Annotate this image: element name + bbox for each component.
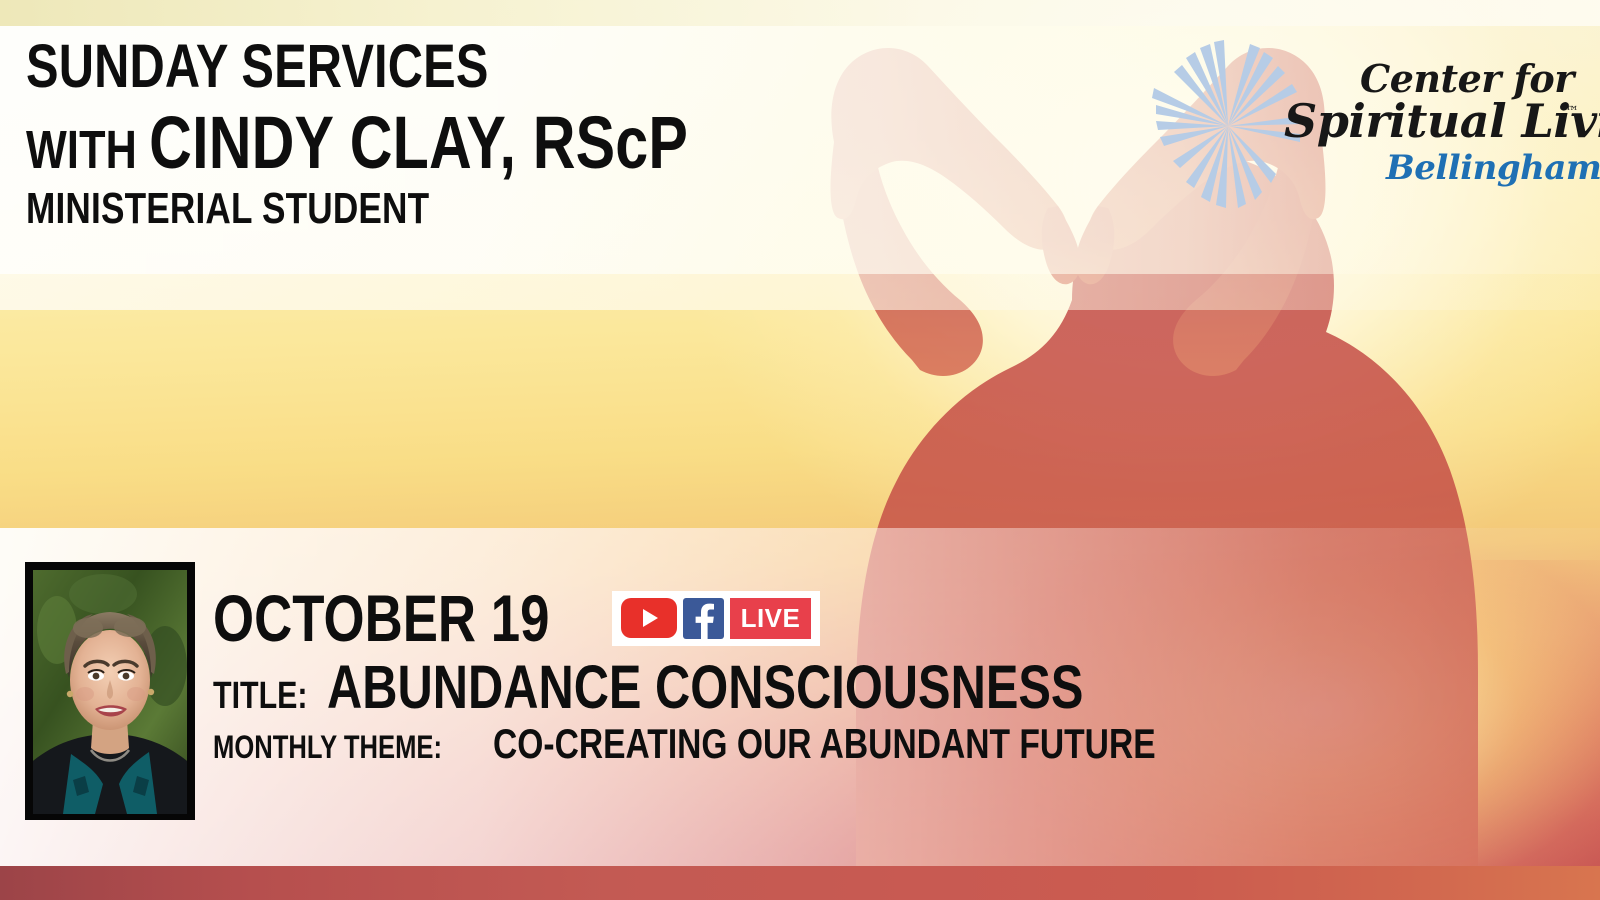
social-badges-group: LIVE [612,591,821,646]
live-badge[interactable]: LIVE [730,598,812,639]
service-title-row: TITLE: ABUNDANCE CONSCIOUSNESS [213,657,1322,718]
headline-block: SUNDAY SERVICES WITH CINDY CLAY, RScP MI… [26,36,854,231]
date-and-social-row: OCTOBER 19 LIVE [213,585,1322,651]
service-details-block: OCTOBER 19 LIVE TITLE: ABUNDANCE CONSCIO… [213,585,1322,765]
monthly-theme-row: MONTHLY THEME: CO-CREATING OUR ABUNDANT … [213,723,1322,765]
title-value: ABUNDANCE CONSCIOUSNESS [327,657,1083,718]
headline-line-2: WITH CINDY CLAY, RScP [26,106,688,180]
top-band [0,0,1600,26]
youtube-play-triangle [643,609,658,627]
sunday-service-flyer: SUNDAY SERVICES WITH CINDY CLAY, RScP MI… [0,0,1600,900]
headline-line-1: SUNDAY SERVICES [26,36,688,97]
theme-label: MONTHLY THEME: [213,731,442,763]
title-label: TITLE: [213,677,308,715]
bottom-strip-band [0,866,1600,900]
center-for-spiritual-living-logo[interactable]: Center for Spiritual Living ™ Bellingham [1150,38,1580,218]
speaker-portrait-photo [33,570,187,814]
trademark-symbol: ™ [1565,104,1579,120]
theme-value: CO-CREATING OUR ABUNDANT FUTURE [493,723,1156,765]
service-date: OCTOBER 19 [213,585,549,651]
youtube-icon[interactable] [621,598,677,638]
facebook-icon[interactable] [683,598,724,639]
mid-band [0,274,1600,310]
speaker-portrait-frame [25,562,195,820]
logo-spiritual-living: Spiritual Living [1284,94,1600,148]
headline-line-3: MINISTERIAL STUDENT [26,187,688,231]
speaker-name: CINDY CLAY, RScP [149,101,688,184]
logo-bellingham: Bellingham [1386,148,1600,188]
headline-with-prefix: WITH [26,120,149,180]
logo-wordmark: Center for Spiritual Living ™ Bellingham [1278,44,1580,214]
